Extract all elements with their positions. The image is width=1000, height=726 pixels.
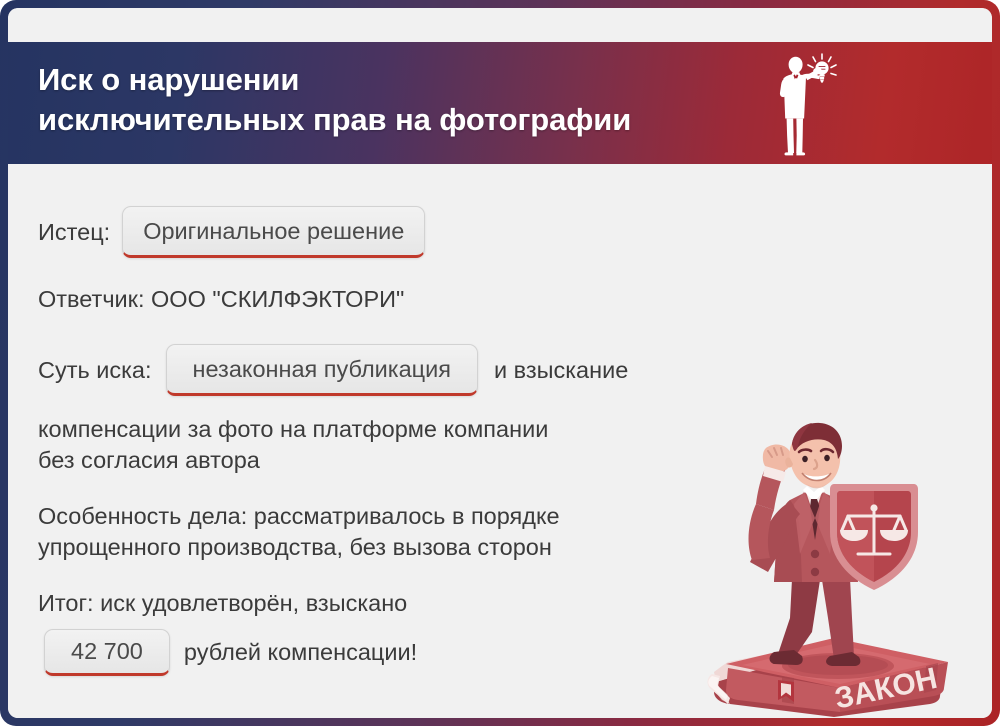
claim-suffix-text: и взыскание (494, 355, 628, 385)
defendant-row: Ответчик: ООО "СКИЛФЭКТОРИ" (38, 284, 992, 314)
businessman-with-lightbulb-icon (768, 52, 840, 160)
top-strip (8, 8, 992, 42)
spacer (38, 475, 992, 501)
plaintiff-label: Истец: (38, 217, 110, 247)
case-summary-card: Иск о нарушении исключительных прав на ф… (0, 0, 1000, 726)
card-content: Истец: Оригинальное решение Ответчик: ОО… (8, 164, 992, 718)
compensation-suffix-text: рублей компенсации! (184, 639, 417, 666)
claim-value-chip[interactable]: незаконная публикация (166, 344, 478, 396)
plaintiff-value-chip[interactable]: Оригинальное решение (122, 206, 425, 258)
spacer (38, 318, 992, 344)
spacer (38, 262, 992, 284)
compensation-amount-chip[interactable]: 42 700 (44, 629, 170, 676)
result-amount-row: 42 700 рублей компенсации! (38, 629, 992, 676)
claim-row: Суть иска: незаконная публикация и взыск… (38, 344, 992, 396)
page-title: Иск о нарушении исключительных прав на ф… (38, 60, 631, 141)
spacer (38, 400, 992, 414)
claim-body-text: компенсации за фото на платформе компани… (38, 414, 992, 475)
card-header: Иск о нарушении исключительных прав на ф… (8, 42, 992, 164)
plaintiff-row: Истец: Оригинальное решение (38, 206, 992, 258)
case-feature-text: Особенность дела: рассматривалось в поря… (38, 501, 992, 562)
spacer (38, 562, 992, 588)
card-inner: Иск о нарушении исключительных прав на ф… (8, 8, 992, 718)
claim-label: Суть иска: (38, 355, 152, 385)
defendant-text: Ответчик: ООО "СКИЛФЭКТОРИ" (38, 284, 404, 314)
result-text: Итог: иск удовлетворён, взыскано (38, 588, 992, 619)
